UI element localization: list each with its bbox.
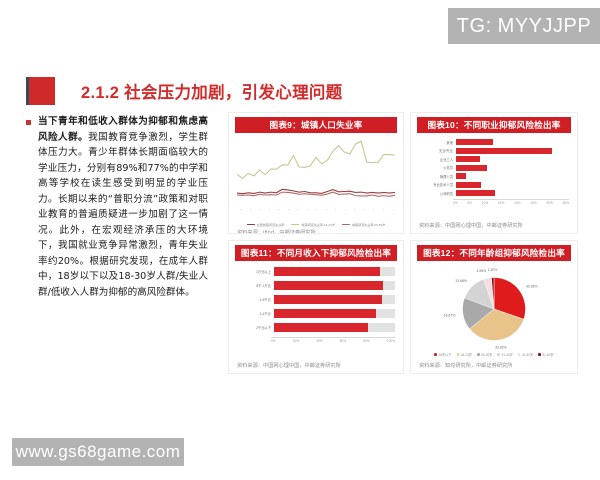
chart-source-fig10: 资料来源：中国网心理中国，中邮证券研究所 [411, 222, 577, 233]
legend-item: 城镇调查失业率:25-59岁 [342, 222, 386, 227]
chart-body-fig9: 2018-012018-042018-072018-102019-012019-… [229, 133, 403, 229]
legend-fig9: 全国城镇调查失业率城镇调查失业率:16-24岁城镇调查失业率:25-59岁 [237, 222, 395, 227]
bar-fill [274, 267, 380, 276]
chart-panel-fig12: 图表12：不同年龄组抑郁风险检出率 30.28%33.82%16.67%13.9… [410, 240, 578, 374]
legend-item: 25-30岁 [477, 352, 492, 357]
bar-fill [456, 173, 466, 179]
chart-body-fig11: 1万元以上8千-1万元4-8千元2-4千元2千元以下 0%20%40%60%80… [229, 261, 403, 362]
x-tick-label: 5% [467, 201, 472, 205]
bar-fill [274, 295, 382, 304]
legend-label: 25-30岁 [481, 352, 492, 357]
bar-category-label: 8千-1万元 [237, 283, 274, 288]
bar-row: 1万元以上 [237, 267, 395, 276]
bar-track [456, 190, 569, 196]
bar-row: 4-8千元 [237, 295, 395, 304]
pie-value-label: 3.95% [476, 269, 486, 273]
bar-track [456, 165, 569, 171]
bar-category-label: 其他 [419, 140, 456, 145]
line-series [237, 141, 395, 178]
legend-label: 41-50岁 [522, 352, 533, 357]
bar-track [456, 156, 569, 162]
body-rest-sentence: 我国教育竞争激烈，学生群体压力大。青少年群体长期面临较大的学业压力，分别有89%… [38, 132, 208, 298]
pie-value-label: 16.67% [444, 313, 456, 317]
legend-label: 31-40岁 [501, 352, 512, 357]
legend-dot-icon [434, 353, 437, 356]
heading-accent-block [26, 77, 55, 105]
bar-row: 企业工人 [419, 156, 569, 162]
watermark-top-right: TG: MYYJJPP [448, 8, 600, 44]
body-text-column: 当下青年和低收入群体为抑郁和焦虑高风险人群。我国教育竞争激烈，学生群体压力大。青… [26, 114, 208, 300]
x-tick-label: 0% [271, 339, 276, 343]
legend-item: 18-24岁 [457, 352, 472, 357]
chart-body-fig10: 其他无业/失业企业工人公务员管理人员专业技术人员公司职员 0%5%10%15%2… [411, 133, 577, 222]
bar-fill [456, 148, 552, 154]
bar-category-label: 无业/失业 [419, 148, 456, 153]
x-axis-ticks-fig10: 0%5%10%15%20%25%30%35% [453, 199, 569, 205]
legend-swatch-icon [247, 224, 255, 225]
bar-category-label: 2-4千元 [237, 311, 274, 316]
bar-track [456, 139, 569, 145]
legend-swatch-icon [291, 224, 299, 225]
chart-source-fig11: 资料来源：中国网心理中国，中邮证券研究所 [229, 362, 403, 373]
chart-panel-fig9: 图表9：城镇人口失业率 2018-012018-042018-072018-10… [228, 112, 404, 234]
x-tick-label: 60% [340, 339, 346, 343]
bar-row: 2千元以下 [237, 323, 395, 332]
legend-item: 18岁以下 [434, 352, 451, 357]
bar-fill [456, 190, 495, 196]
pie-chart-fig12: 30.28%33.82%16.67%13.98%3.95%1.30% [419, 267, 569, 351]
slide-heading: 2.1.2 社会压力加剧，引发心理问题 [26, 74, 571, 108]
chart-title-fig9: 图表9：城镇人口失业率 [235, 117, 397, 133]
bullet-paragraph: 当下青年和低收入群体为抑郁和焦虑高风险人群。我国教育竞争激烈，学生群体压力大。青… [26, 114, 208, 300]
pie-value-label: 30.28% [526, 284, 538, 288]
chart-source-fig12: 资料来源：知勾研究所，中邮证券研究所 [411, 362, 577, 373]
bar-row: 8千-1万元 [237, 281, 395, 290]
legend-dot-icon [518, 353, 521, 356]
pie-value-label: 33.82% [495, 346, 507, 350]
pie-value-label: 1.30% [488, 268, 498, 272]
bar-row: 公司职员 [419, 190, 569, 196]
bar-fill [456, 182, 481, 188]
bar-chart-fig10: 其他无业/失业企业工人公务员管理人员专业技术人员公司职员 [419, 139, 569, 196]
pie-value-label: 13.98% [455, 279, 467, 283]
line-series [237, 189, 395, 193]
x-tick-label: 35% [563, 201, 569, 205]
legend-item: 城镇调查失业率:16-24岁 [291, 222, 335, 227]
legend-label: 城镇调查失业率:25-59岁 [352, 222, 386, 227]
chart-body-fig12: 30.28%33.82%16.67%13.98%3.95%1.30% 18岁以下… [411, 261, 577, 362]
legend-label: 18岁以下 [438, 352, 451, 357]
bar-track [456, 173, 569, 179]
bar-fill [456, 139, 493, 145]
x-tick-label: 100% [387, 339, 395, 343]
chart-panel-fig11: 图表11：不同月收入下抑郁风险检出率 1万元以上8千-1万元4-8千元2-4千元… [228, 240, 404, 374]
bar-row: 2-4千元 [237, 309, 395, 318]
legend-label: 18-24岁 [461, 352, 472, 357]
legend-dot-icon [497, 353, 500, 356]
legend-fig12: 18岁以下18-24岁25-30岁31-40岁41-50岁51-60岁 [419, 352, 569, 357]
body-paragraph: 当下青年和低收入群体为抑郁和焦虑高风险人群。我国教育竞争激烈，学生群体压力大。青… [38, 114, 208, 300]
legend-dot-icon [538, 353, 541, 356]
line-chart-fig9 [237, 139, 395, 209]
legend-item: 全国城镇调查失业率 [247, 222, 285, 227]
line-chart-svg [237, 139, 395, 209]
legend-label: 全国城镇调查失业率 [257, 222, 285, 227]
bar-category-label: 管理人员 [419, 174, 456, 179]
x-tick-label: 15% [498, 201, 504, 205]
bar-category-label: 公务员 [419, 165, 456, 170]
bar-row: 无业/失业 [419, 148, 569, 154]
x-tick-label: 40% [316, 339, 322, 343]
bar-track [274, 309, 395, 318]
bar-track [274, 267, 395, 276]
bar-row: 专业技术人员 [419, 182, 569, 188]
x-tick-label: 30% [546, 201, 552, 205]
bar-track [456, 182, 569, 188]
chart-panel-fig10: 图表10：不同职业抑郁风险检出率 其他无业/失业企业工人公务员管理人员专业技术人… [410, 112, 578, 234]
bar-track [456, 148, 569, 154]
pie-chart-svg: 30.28%33.82%16.67%13.98%3.95%1.30% [434, 267, 554, 351]
slide-canvas: 2.1.2 社会压力加剧，引发心理问题 当下青年和低收入群体为抑郁和焦虑高风险人… [0, 52, 600, 422]
bar-category-label: 2千元以下 [237, 325, 274, 330]
bar-track [274, 281, 395, 290]
x-axis-ticks-fig11: 0%20%40%60%80%100% [271, 337, 395, 343]
bar-row: 管理人员 [419, 173, 569, 179]
x-axis-ticks-fig9: 2018-012018-042018-072018-102019-012019-… [237, 209, 395, 220]
x-tick-label: 20% [514, 201, 520, 205]
bar-track [274, 323, 395, 332]
bar-fill [274, 281, 383, 290]
chart-source-fig9: 资料来源：ifind，中邮证券研究所 [229, 229, 403, 233]
watermark-bottom-left: www.gs68game.com [12, 438, 184, 466]
bar-category-label: 1万元以上 [237, 269, 274, 274]
bar-row: 公务员 [419, 165, 569, 171]
x-tick-label: 25% [530, 201, 536, 205]
legend-item: 31-40岁 [497, 352, 512, 357]
bar-row: 其他 [419, 139, 569, 145]
x-tick-label: 20% [293, 339, 299, 343]
bar-fill [274, 323, 368, 332]
chart-title-fig11: 图表11：不同月收入下抑郁风险检出率 [235, 245, 397, 261]
page-title: 2.1.2 社会压力加剧，引发心理问题 [81, 79, 342, 103]
bar-fill [456, 156, 480, 162]
bar-category-label: 企业工人 [419, 157, 456, 162]
legend-label: 城镇调查失业率:16-24岁 [301, 222, 335, 227]
x-tick-label: 0% [453, 201, 458, 205]
bar-fill [456, 165, 487, 171]
legend-label: 51-60岁 [542, 352, 553, 357]
legend-dot-icon [457, 353, 460, 356]
legend-swatch-icon [342, 224, 350, 225]
bar-category-label: 公司职员 [419, 191, 456, 196]
chart-title-fig12: 图表12：不同年龄组抑郁风险检出率 [417, 245, 571, 261]
bar-fill [274, 309, 376, 318]
x-tick-label: 10% [482, 201, 488, 205]
legend-item: 51-60岁 [538, 352, 553, 357]
bar-chart-fig11: 1万元以上8千-1万元4-8千元2-4千元2千元以下 [237, 267, 395, 332]
bar-track [274, 295, 395, 304]
bar-category-label: 4-8千元 [237, 297, 274, 302]
legend-item: 41-50岁 [518, 352, 533, 357]
x-tick-label: 80% [363, 339, 369, 343]
chart-title-fig10: 图表10：不同职业抑郁风险检出率 [417, 117, 571, 133]
legend-dot-icon [477, 353, 480, 356]
bullet-square-icon [26, 120, 31, 125]
bar-category-label: 专业技术人员 [419, 182, 456, 187]
